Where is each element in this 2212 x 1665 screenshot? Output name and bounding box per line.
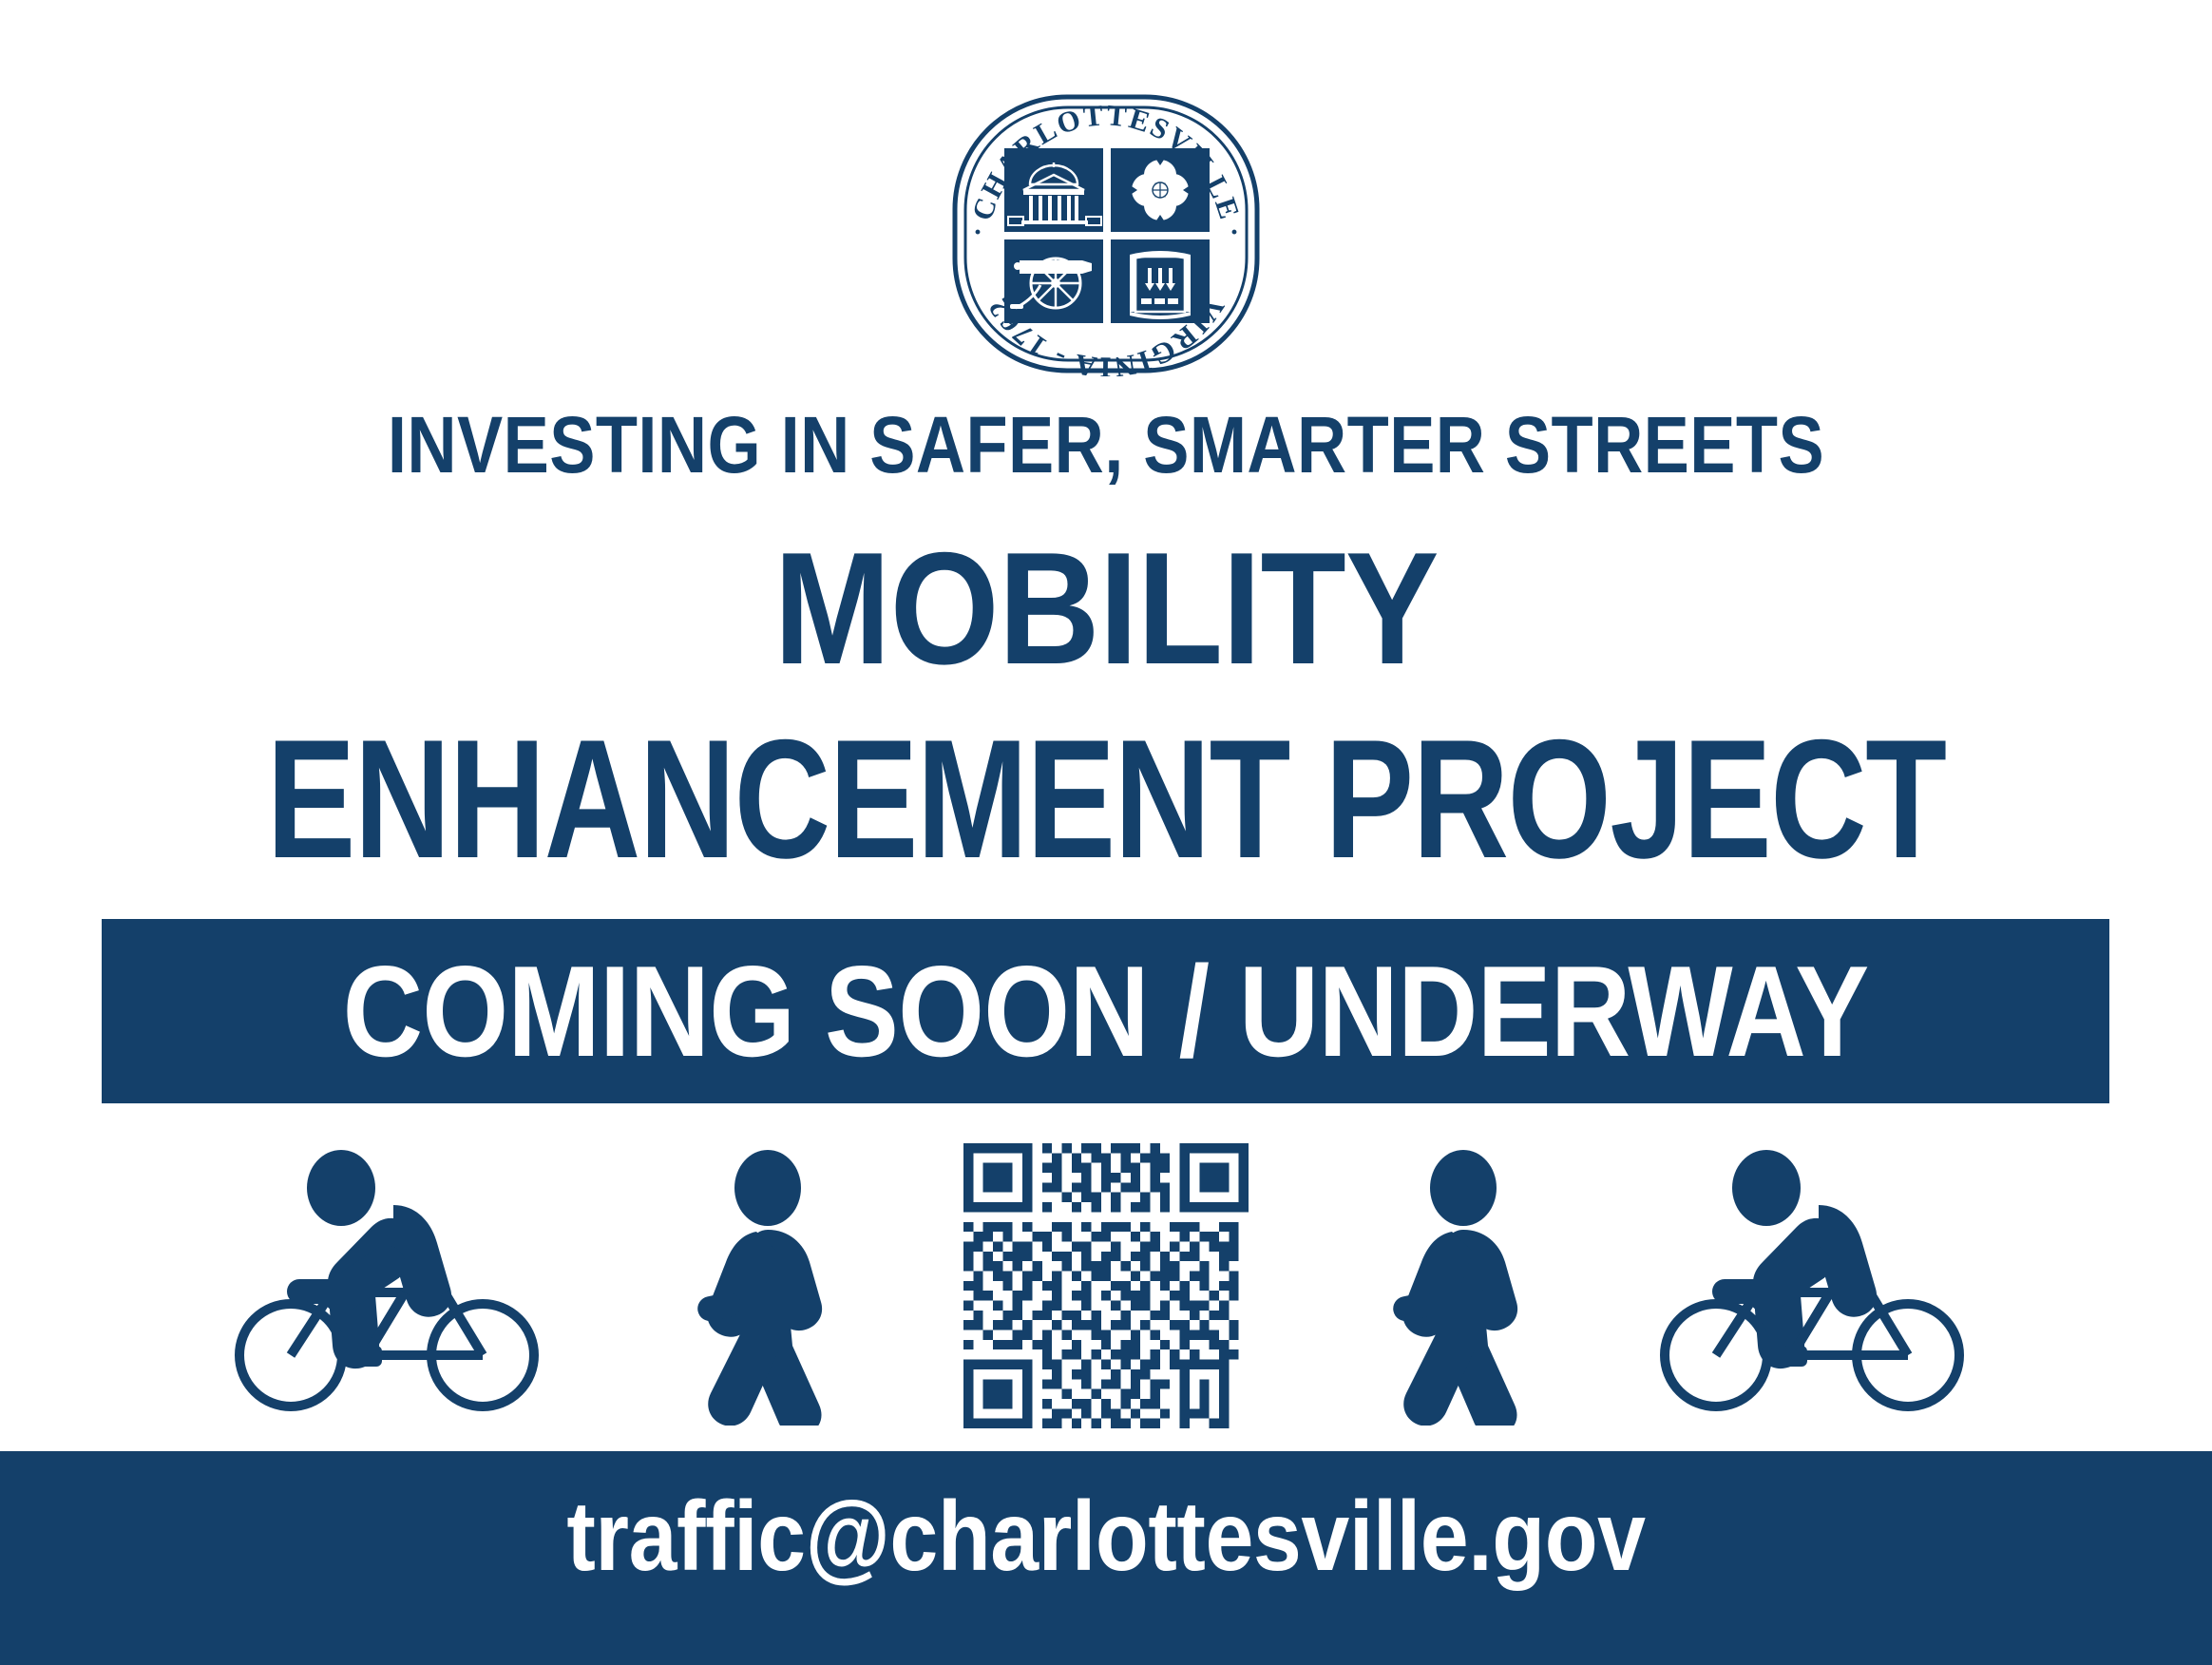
contact-email[interactable]: traffic@charlottesville.gov bbox=[133, 1451, 2080, 1665]
city-seal-icon: CHARLOTTESVILLE VIRGINIA - 1762 · · bbox=[949, 91, 1263, 376]
pedestrian-icon bbox=[1361, 1150, 1547, 1426]
cyclist-icon bbox=[1659, 1150, 1978, 1426]
cyclist-icon bbox=[234, 1150, 553, 1426]
status-banner: COMING SOON / UNDERWAY bbox=[102, 919, 2109, 1103]
seal-quadrant-charter bbox=[1111, 239, 1210, 323]
mode-icon-row bbox=[0, 1140, 2212, 1435]
city-seal: CHARLOTTESVILLE VIRGINIA - 1762 · · bbox=[949, 91, 1263, 376]
sign-eyebrow: INVESTING IN SAFER, SMARTER STREETS bbox=[155, 403, 2057, 487]
mobility-project-sign: CHARLOTTESVILLE VIRGINIA - 1762 · · bbox=[0, 0, 2212, 1665]
seal-quadrant-rotunda bbox=[1004, 148, 1103, 232]
footer-contact-band: traffic@charlottesville.gov bbox=[0, 1451, 2212, 1665]
qr-code[interactable] bbox=[963, 1143, 1249, 1433]
seal-dot-left: · bbox=[973, 217, 982, 248]
seal-shield bbox=[1004, 148, 1210, 323]
pedestrian-icon bbox=[665, 1150, 851, 1426]
seal-dot-right: · bbox=[1230, 217, 1239, 248]
sign-title-line-1: MOBILITY bbox=[133, 528, 2080, 688]
sign-title-line-2: ENHANCEMENT PROJECT bbox=[232, 715, 1979, 884]
seal-quadrant-dogwood bbox=[1111, 148, 1210, 232]
status-badge: COMING SOON / UNDERWAY bbox=[242, 919, 1969, 1103]
seal-quadrant-cannon bbox=[1004, 239, 1103, 323]
